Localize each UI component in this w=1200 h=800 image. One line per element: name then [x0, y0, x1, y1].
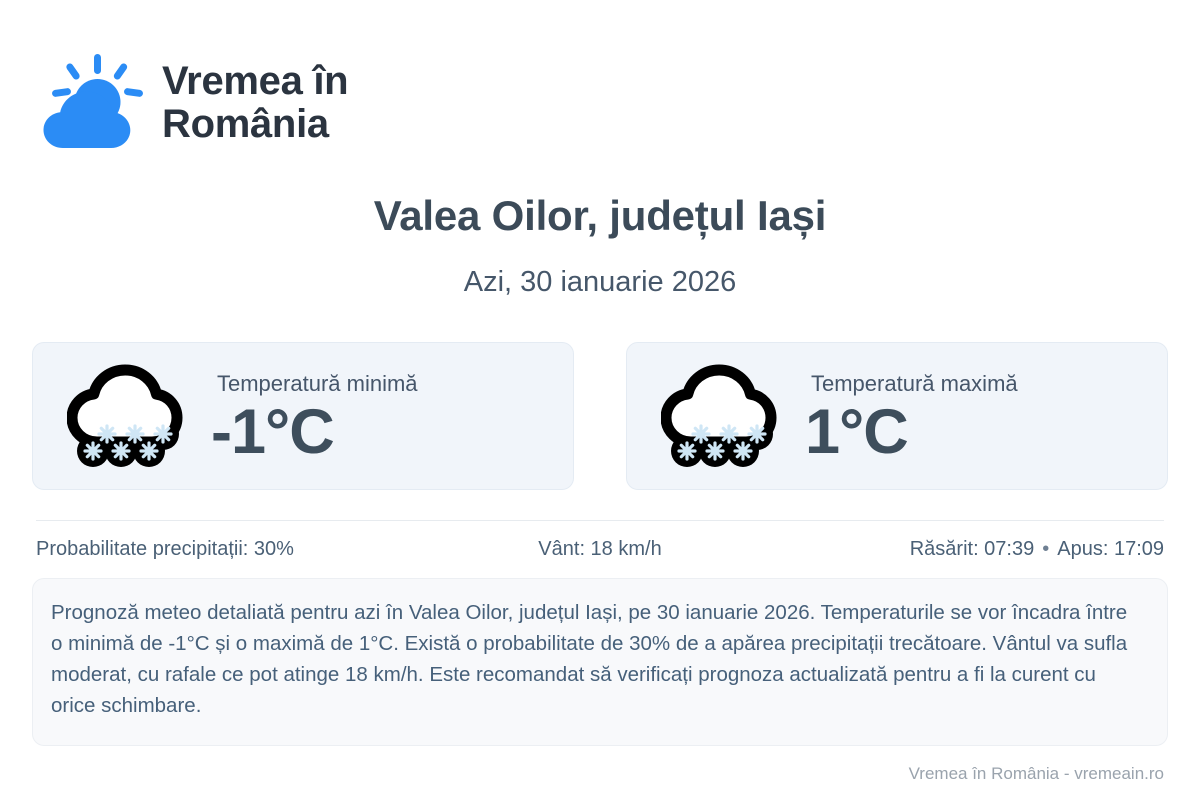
weather-stats-row: Probabilitate precipitații: 30% Vânt: 18…	[36, 538, 1164, 561]
snow-cloud-icon	[67, 364, 185, 468]
temperature-max-value: 1°C	[805, 399, 1018, 465]
temperature-cards: Temperatură minimă -1°C	[32, 342, 1168, 490]
brand-header[interactable]: Vremea în România	[36, 52, 348, 154]
temperature-max-label: Temperatură maximă	[805, 371, 1018, 397]
page-subtitle: Azi, 30 ianuarie 2026	[0, 266, 1200, 299]
temperature-min-value: -1°C	[211, 399, 418, 465]
temperature-card-max: Temperatură maximă 1°C	[626, 342, 1168, 490]
sunrise-value: Răsărit: 07:39	[910, 538, 1035, 560]
sun-behind-cloud-icon	[36, 52, 144, 154]
precipitation-stat: Probabilitate precipitații: 30%	[36, 538, 412, 561]
sun-times-separator: •	[1034, 538, 1057, 560]
brand-name: Vremea în România	[162, 60, 348, 146]
sunset-value: Apus: 17:09	[1057, 538, 1164, 560]
temperature-card-max-body: Temperatură maximă 1°C	[805, 367, 1018, 466]
stats-divider	[36, 520, 1164, 521]
weather-page: Vremea în România Valea Oilor, județul I…	[0, 0, 1200, 800]
temperature-card-min-body: Temperatură minimă -1°C	[211, 367, 418, 466]
temperature-card-min: Temperatură minimă -1°C	[32, 342, 574, 490]
sun-times-stat: Răsărit: 07:39•Apus: 17:09	[788, 538, 1164, 561]
wind-stat: Vânt: 18 km/h	[412, 538, 788, 561]
forecast-description-text: Prognoză meteo detaliată pentru azi în V…	[51, 597, 1139, 722]
site-footer: Vremea în România - vremeain.ro	[909, 764, 1164, 784]
snow-cloud-icon	[661, 364, 779, 468]
forecast-description-panel: Prognoză meteo detaliată pentru azi în V…	[32, 578, 1168, 746]
temperature-min-label: Temperatură minimă	[211, 371, 418, 397]
page-title: Valea Oilor, județul Iași	[0, 192, 1200, 240]
